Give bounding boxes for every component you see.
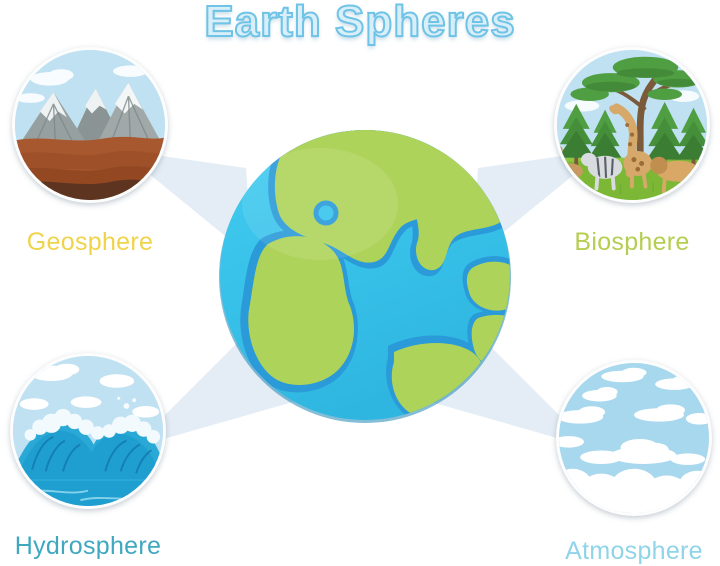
- sphere-hydrosphere[interactable]: Hydrosphere: [10, 353, 166, 564]
- sphere-atmosphere[interactable]: Atmosphere: [556, 360, 712, 564]
- biosphere-circle[interactable]: [554, 47, 710, 203]
- earth-globe: [216, 126, 514, 424]
- geosphere-label: Geosphere: [12, 227, 168, 257]
- page-title: Earth Spheres: [0, 0, 720, 48]
- biosphere-label: Biosphere: [554, 227, 710, 257]
- earth-spheres-diagram: Earth Spheres: [0, 0, 720, 564]
- geosphere-circle[interactable]: [12, 47, 168, 203]
- sphere-biosphere[interactable]: Biosphere: [554, 47, 710, 272]
- atmosphere-label: Atmosphere: [556, 536, 712, 566]
- sphere-geosphere[interactable]: Geosphere: [12, 47, 168, 272]
- atmosphere-circle[interactable]: [556, 360, 712, 516]
- hydrosphere-circle[interactable]: [10, 353, 166, 509]
- hydrosphere-label: Hydrosphere: [10, 531, 166, 561]
